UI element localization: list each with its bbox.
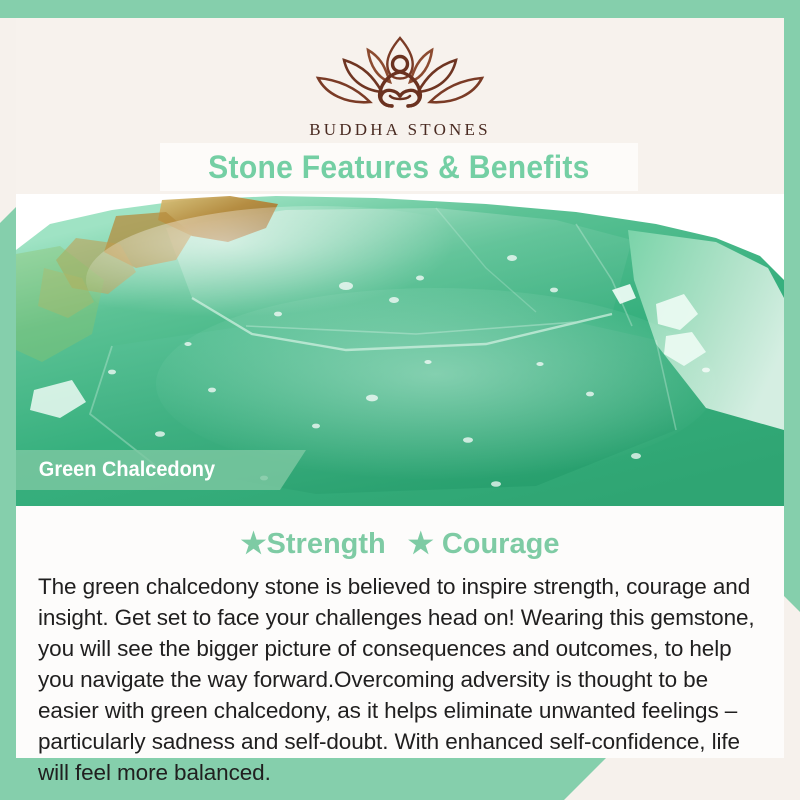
frame-top-bar (0, 0, 800, 18)
keyword-strength-label: Strength (267, 528, 386, 560)
brand-logo: BUDDHA STONES (16, 30, 784, 140)
description-text: The green chalcedony stone is believed t… (38, 571, 762, 788)
stone-name-badge: Green Chalcedony (16, 450, 306, 490)
page-surface: BUDDHA STONES Stone Features & Benefits (16, 18, 784, 758)
keyword-strength: ★Strength (241, 526, 386, 561)
stone-photo: Green Chalcedony (16, 194, 784, 506)
keyword-courage: ★ Courage (408, 526, 560, 561)
stone-name-label: Green Chalcedony (16, 458, 215, 482)
star-icon: ★ (408, 528, 434, 560)
keyword-courage-label: Courage (442, 528, 560, 560)
content-panel: ★Strength★ Courage The green chalcedony … (16, 506, 784, 758)
keyword-list: ★Strength★ Courage (16, 526, 784, 561)
brand-wordmark: BUDDHA STONES (16, 120, 784, 140)
page-title: Stone Features & Benefits (208, 149, 589, 186)
poster-card: BUDDHA STONES Stone Features & Benefits (0, 0, 800, 800)
title-banner: Stone Features & Benefits (160, 143, 638, 191)
star-icon: ★ (241, 528, 267, 560)
lotus-meditation-icon (308, 30, 492, 118)
